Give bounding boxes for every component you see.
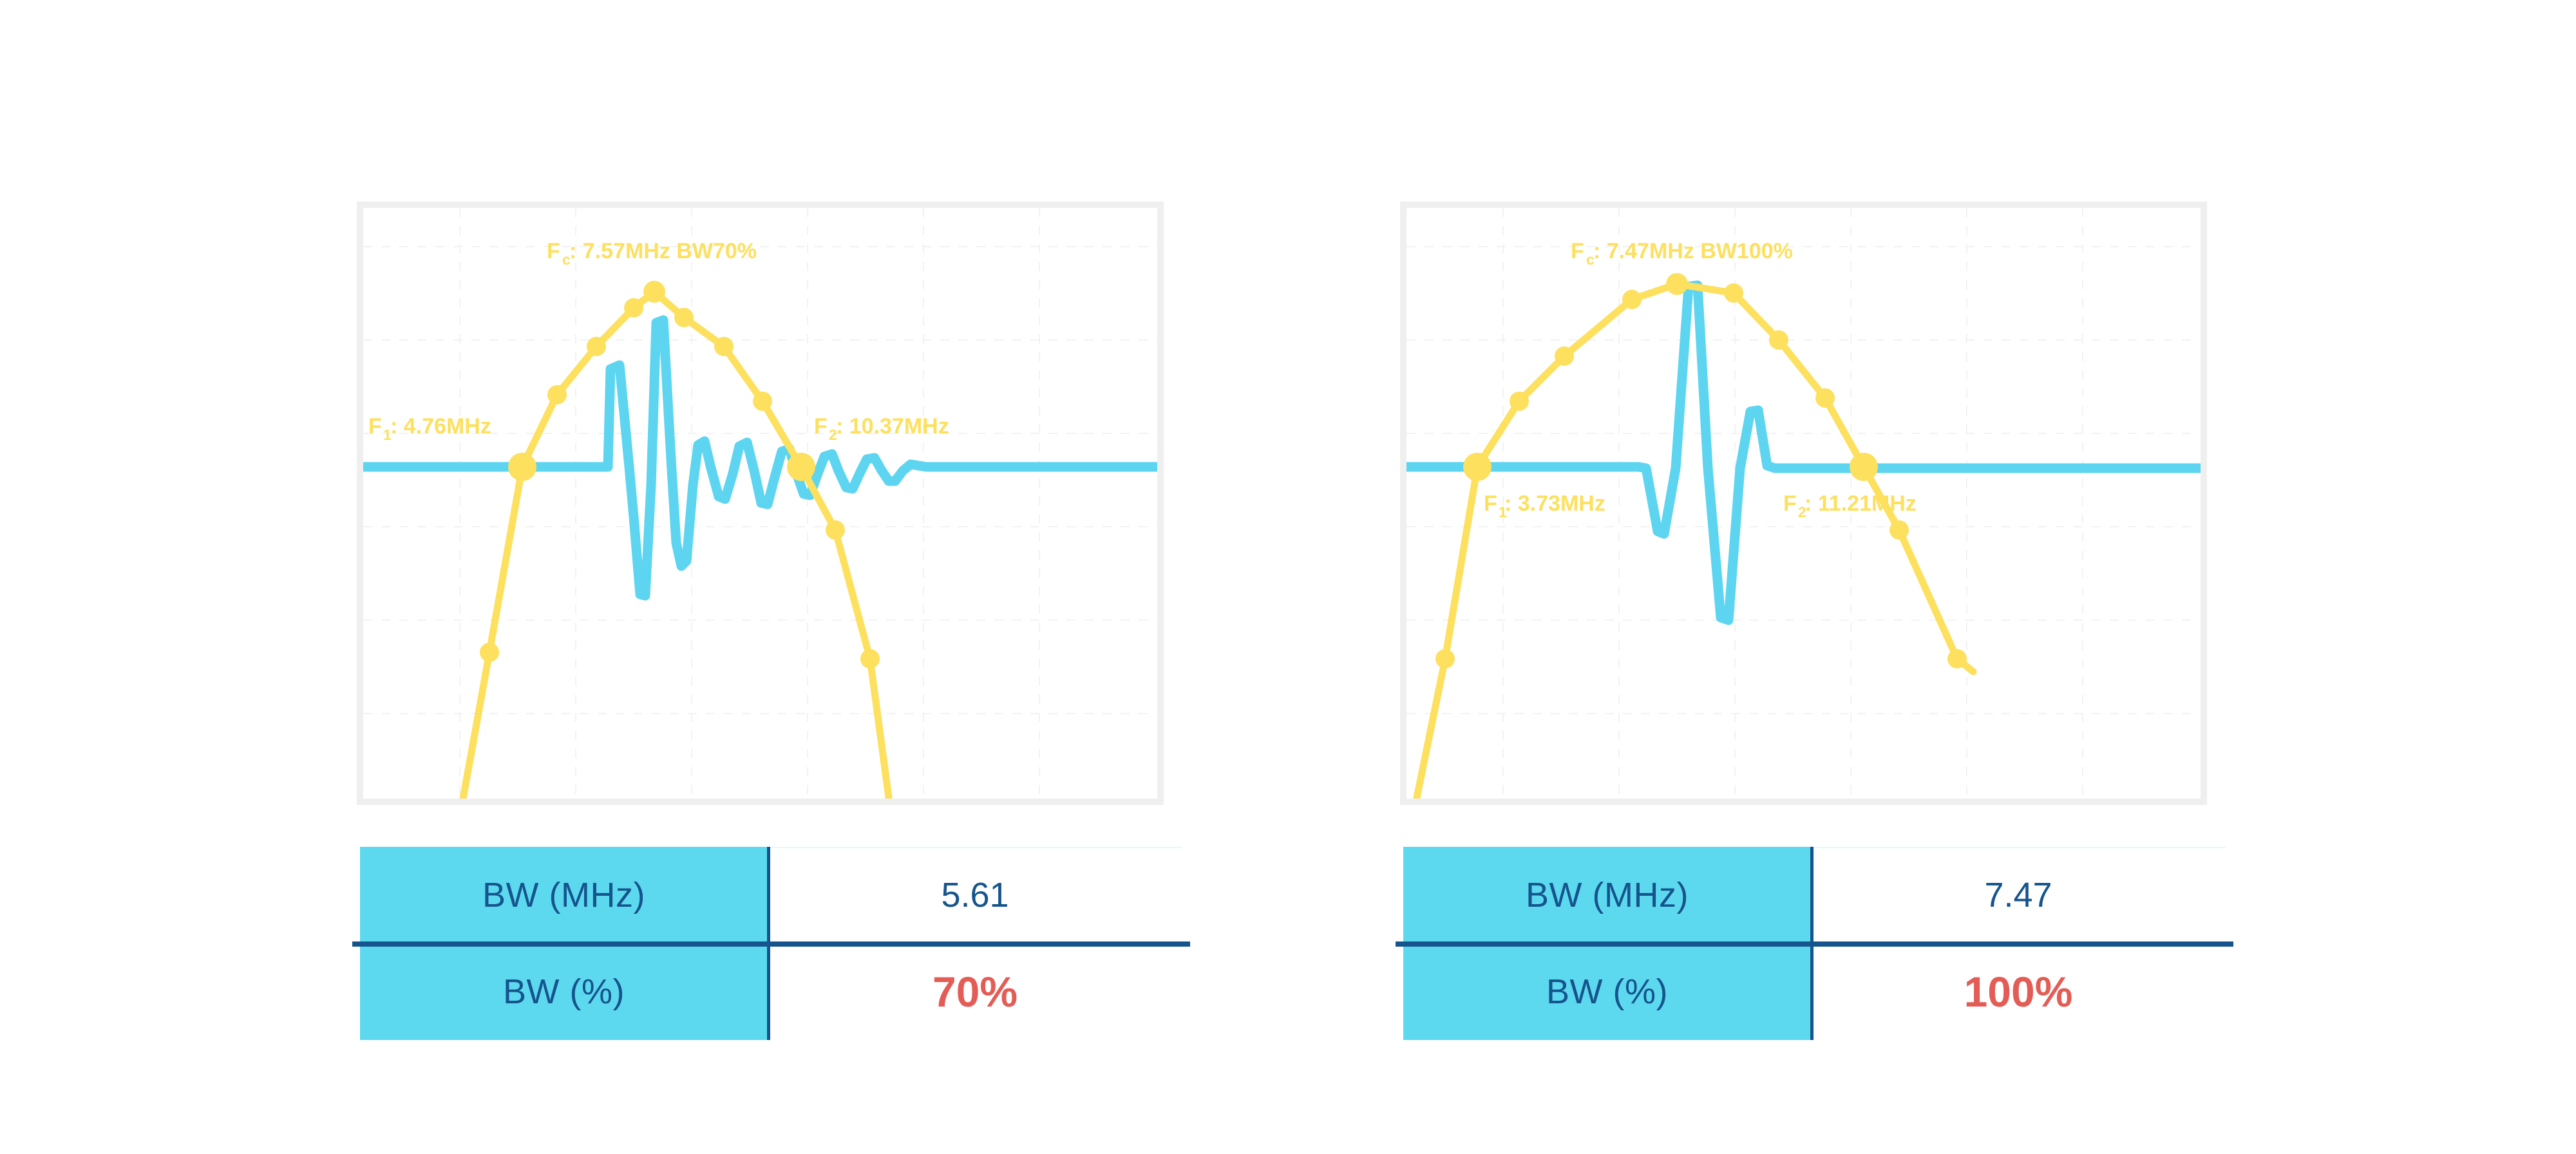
bw-mhz-value: 7.47	[1984, 875, 2052, 915]
label-f2-left: F 2 : 10.37MHz	[814, 414, 949, 443]
label-f1-rest: : 3.73MHz	[1504, 491, 1605, 516]
bw-percent-value: 100%	[1964, 967, 2073, 1016]
label-fc-left: F c : 7.57MHz BW70%	[547, 239, 757, 268]
table-row-divider	[1396, 941, 2233, 947]
table-top-hairline	[1811, 847, 2226, 848]
bw-mhz-label-cell: BW (MHz)	[360, 847, 768, 943]
waveform-trace-left	[363, 320, 1157, 596]
bw-table-left: BW (MHz) 5.61 BW (%) 70%	[360, 847, 1182, 1040]
label-f2-right: F 2 : 11.21MHz	[1783, 491, 1917, 520]
table-row: BW (MHz) 7.47	[1403, 847, 2226, 943]
label-fc-rest: : 7.47MHz BW100%	[1593, 239, 1793, 263]
label-fc-rest: : 7.57MHz BW70%	[569, 239, 757, 263]
chart-frame-right: F c : 7.47MHz BW100% F 1 : 3.73MHz F 2 :…	[1400, 202, 2207, 805]
chart-left: F c : 7.57MHz BW70% F 1 : 4.76MHz F 2 : …	[363, 208, 1157, 799]
chart-right: F c : 7.47MHz BW100% F 1 : 3.73MHz F 2 :…	[1406, 208, 2201, 799]
spectrum-curve-right	[1413, 273, 1973, 799]
label-f2-prefix: F	[814, 414, 828, 439]
table-top-hairline	[768, 847, 1182, 848]
table-row: BW (%) 100%	[1403, 943, 2226, 1040]
bw-mhz-label: BW (MHz)	[1526, 875, 1689, 915]
label-fc-prefix: F	[547, 239, 560, 263]
bw-percent-label-cell: BW (%)	[360, 943, 768, 1040]
table-row-divider	[352, 941, 1190, 947]
bw-percent-label-cell: BW (%)	[1403, 943, 1811, 1040]
figure-canvas: F c : 7.57MHz BW70% F 1 : 4.76MHz F 2 : …	[0, 0, 2576, 1154]
bw-mhz-label: BW (MHz)	[482, 875, 645, 915]
panel-left: F c : 7.57MHz BW70% F 1 : 4.76MHz F 2 : …	[357, 202, 1164, 805]
label-f1-left: F 1 : 4.76MHz	[368, 414, 491, 443]
waveform-trace-right	[1406, 285, 2201, 620]
bw-mhz-value-cell: 7.47	[1811, 847, 2226, 943]
bw-percent-value-cell: 70%	[768, 943, 1182, 1040]
bw-percent-value-cell: 100%	[1811, 943, 2226, 1040]
bw-percent-label: BW (%)	[503, 972, 625, 1012]
label-fc-right: F c : 7.47MHz BW100%	[1571, 239, 1793, 268]
bw-mhz-label-cell: BW (MHz)	[1403, 847, 1811, 943]
panel-right: F c : 7.47MHz BW100% F 1 : 3.73MHz F 2 :…	[1400, 202, 2207, 805]
label-f2-prefix: F	[1783, 491, 1797, 516]
bw-mhz-value-cell: 5.61	[768, 847, 1182, 943]
label-f1-prefix: F	[368, 414, 382, 439]
label-f2-rest: : 11.21MHz	[1804, 491, 1917, 516]
label-f1-right: F 1 : 3.73MHz	[1484, 491, 1605, 520]
label-f1-prefix: F	[1484, 491, 1497, 516]
table-row: BW (MHz) 5.61	[360, 847, 1182, 943]
label-f2-rest: : 10.37MHz	[836, 414, 949, 439]
bw-table-right: BW (MHz) 7.47 BW (%) 100%	[1403, 847, 2226, 1040]
bw-mhz-value: 5.61	[941, 875, 1009, 915]
table-row: BW (%) 70%	[360, 943, 1182, 1040]
chart-frame-left: F c : 7.57MHz BW70% F 1 : 4.76MHz F 2 : …	[357, 202, 1164, 805]
label-f1-rest: : 4.76MHz	[390, 414, 491, 439]
bw-percent-label: BW (%)	[1546, 972, 1668, 1012]
label-fc-prefix: F	[1571, 239, 1584, 263]
bw-percent-value: 70%	[933, 967, 1018, 1016]
